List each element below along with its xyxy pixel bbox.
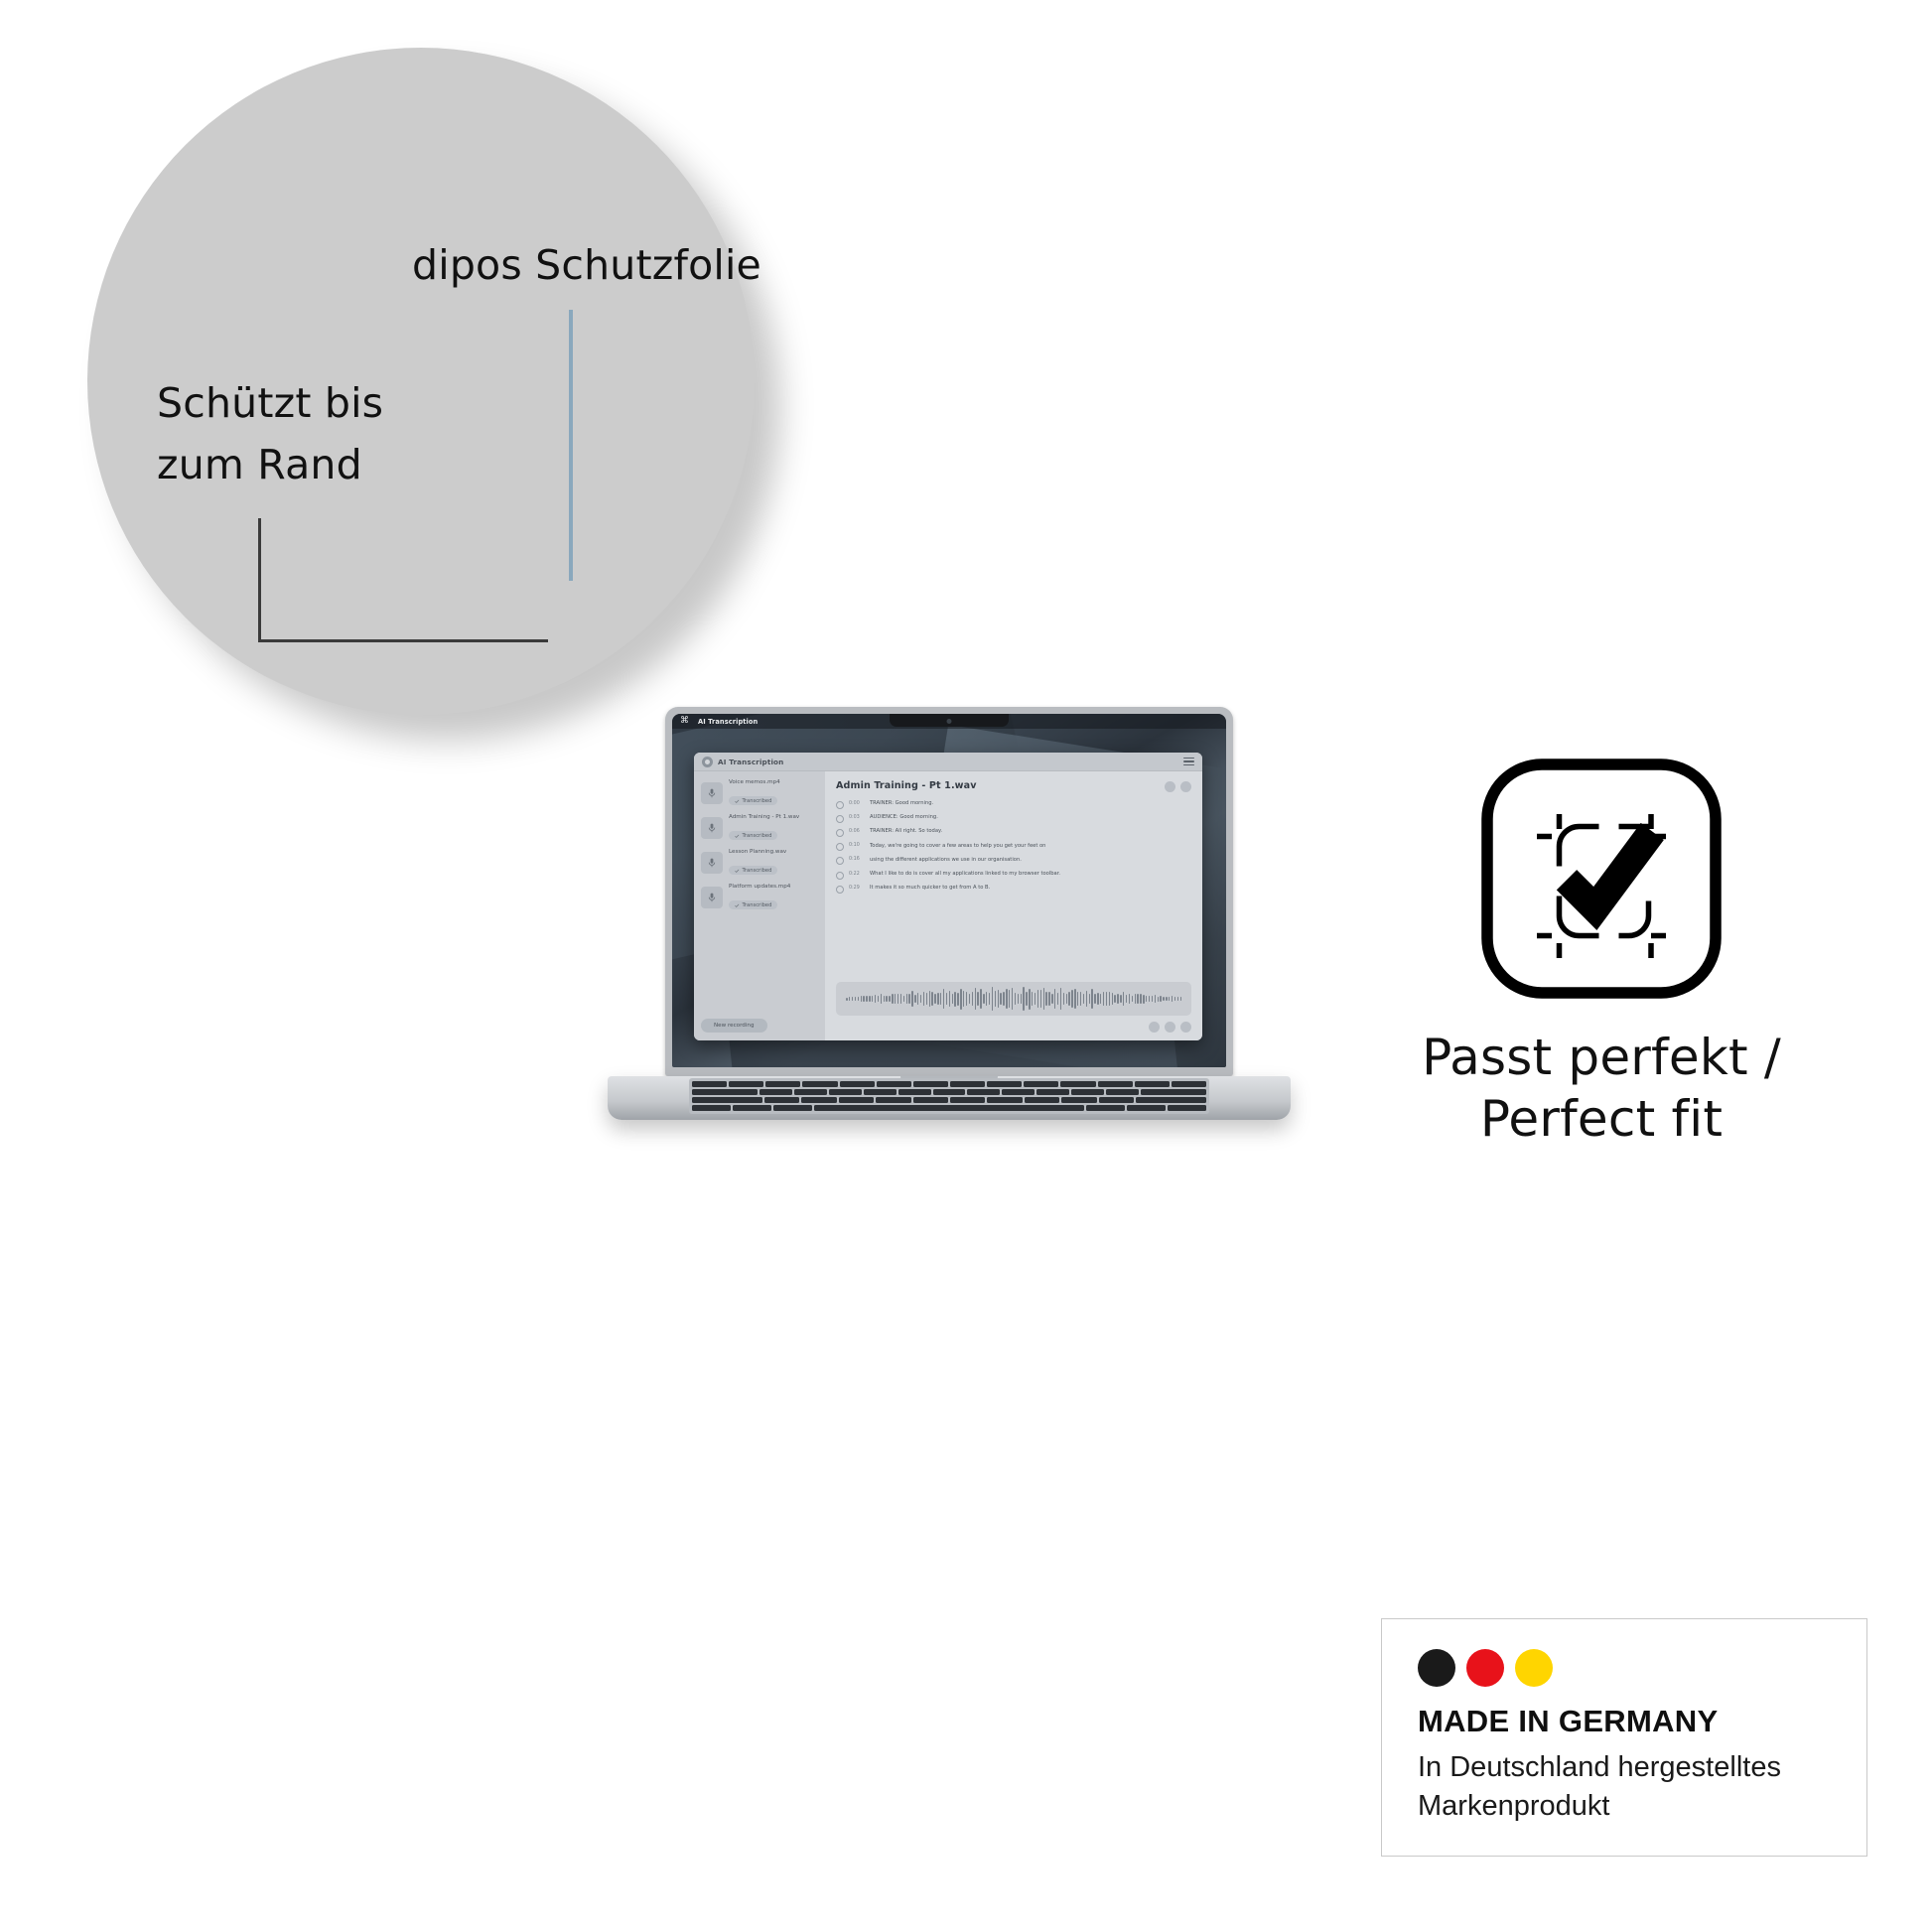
microphone-icon xyxy=(701,852,723,874)
waveform-bar xyxy=(989,993,990,1005)
key[interactable] xyxy=(1036,1089,1069,1095)
transcript-text: It makes it so much quicker to get from … xyxy=(870,885,990,892)
microphone-icon xyxy=(701,817,723,839)
waveform-bar xyxy=(1026,992,1027,1007)
waveform-bar xyxy=(1068,992,1069,1005)
key[interactable] xyxy=(839,1097,874,1103)
key[interactable] xyxy=(967,1089,1000,1095)
waveform-bar xyxy=(1112,993,1113,1006)
waveform-bar xyxy=(1174,997,1175,1001)
waveform-bar xyxy=(849,997,850,1001)
transcript-row[interactable]: 0:00 TRAINER: Good morning. xyxy=(836,800,1191,809)
waveform-bar xyxy=(1018,994,1019,1005)
flag-dot-black xyxy=(1418,1649,1455,1687)
made-in-germany-subtitle: In Deutschland hergestelltes Markenprodu… xyxy=(1418,1748,1866,1825)
audio-waveform[interactable] xyxy=(836,982,1191,1016)
file-meta: Voice memos.mp4 Transcribed xyxy=(729,779,818,807)
header-actions xyxy=(1165,780,1191,792)
waveform-bar xyxy=(1117,994,1118,1005)
key[interactable] xyxy=(987,1081,1022,1087)
key[interactable] xyxy=(801,1097,836,1103)
waveform-bar xyxy=(1155,995,1156,1004)
waveform-bar xyxy=(1037,990,1038,1007)
waveform-bar xyxy=(995,991,996,1007)
key[interactable] xyxy=(773,1105,812,1111)
microphone-icon xyxy=(701,887,723,908)
transcript-text: TRAINER: Good morning. xyxy=(870,800,933,807)
waveform-bar xyxy=(977,992,978,1007)
waveform-bar xyxy=(881,994,882,1004)
waveform-bar xyxy=(1054,989,1055,1009)
waveform-bar xyxy=(858,997,859,1001)
waveform-bar xyxy=(1043,988,1044,1010)
laptop-mockup: ⌘ AI Transcription AI Transcription xyxy=(608,707,1291,1213)
file-sidebar: Voice memos.mp4 Transcribed xyxy=(694,771,825,1040)
waveform-bar xyxy=(892,994,893,1004)
key[interactable] xyxy=(1136,1097,1206,1103)
waveform-bar xyxy=(1180,997,1181,1000)
key[interactable] xyxy=(814,1105,1084,1111)
app-window: AI Transcription xyxy=(694,753,1202,1040)
transcript-timestamp: 0:10 xyxy=(849,843,865,848)
key[interactable] xyxy=(1025,1097,1059,1103)
list-item[interactable]: Lesson Planning.wav Transcribed xyxy=(701,849,818,877)
transcript-text: using the different applications we use … xyxy=(870,857,1022,864)
file-name: Admin Training - Pt 1.wav xyxy=(729,814,818,820)
waveform-bar xyxy=(1109,992,1110,1005)
callout-subtitle-line1: Schützt bis xyxy=(157,372,383,434)
key[interactable] xyxy=(1060,1081,1095,1087)
file-meta: Admin Training - Pt 1.wav Transcribed xyxy=(729,814,818,842)
waveform-bar xyxy=(923,992,924,1006)
key[interactable] xyxy=(692,1097,762,1103)
key[interactable] xyxy=(876,1097,910,1103)
perfect-fit-block: Passt perfekt / Perfect fit xyxy=(1388,755,1815,1150)
file-name: Voice memos.mp4 xyxy=(729,779,818,785)
list-item[interactable]: Admin Training - Pt 1.wav Transcribed xyxy=(701,814,818,842)
waveform-bar xyxy=(1135,994,1136,1003)
play-pause-button[interactable] xyxy=(1165,1022,1175,1033)
status-badge-label: Transcribed xyxy=(743,798,772,804)
waveform-bar xyxy=(861,996,862,1001)
status-badge: Transcribed xyxy=(729,831,777,840)
waveform-bar xyxy=(1032,992,1033,1005)
waveform-bar xyxy=(929,991,930,1007)
key[interactable] xyxy=(802,1081,837,1087)
key[interactable] xyxy=(729,1081,763,1087)
waveform-bar xyxy=(872,996,873,1001)
waveform-bar xyxy=(1015,993,1016,1005)
key[interactable] xyxy=(1098,1081,1133,1087)
waveform-bar xyxy=(911,991,912,1007)
waveform-bar xyxy=(906,994,907,1005)
waveform-bar xyxy=(949,991,950,1007)
status-badge: Transcribed xyxy=(729,900,777,909)
waveform-bar xyxy=(1000,993,1001,1005)
key[interactable] xyxy=(864,1089,897,1095)
waveform-bar xyxy=(1080,992,1081,1006)
transcript-text: TRAINER: All right. So today. xyxy=(870,828,942,835)
file-name: Platform updates.mp4 xyxy=(729,884,818,890)
waveform-bar xyxy=(1051,994,1052,1005)
waveform-bar xyxy=(1120,995,1121,1003)
leader-line-dark-vertical xyxy=(258,518,261,641)
german-flag-dots xyxy=(1418,1649,1866,1687)
key[interactable] xyxy=(840,1081,875,1087)
key[interactable] xyxy=(1168,1105,1206,1111)
key[interactable] xyxy=(950,1081,985,1087)
key[interactable] xyxy=(1086,1105,1125,1111)
waveform-bar xyxy=(1100,994,1101,1004)
waveform-bar xyxy=(966,992,967,1006)
apple-menu-icon[interactable]: ⌘ xyxy=(680,717,689,726)
flag-dot-gold xyxy=(1515,1649,1553,1687)
waveform-bar xyxy=(1149,996,1150,1002)
waveform-bar xyxy=(1114,995,1115,1003)
made-in-germany-badge: MADE IN GERMANY In Deutschland hergestel… xyxy=(1381,1618,1867,1857)
key[interactable] xyxy=(1061,1097,1096,1103)
speaker-icon xyxy=(836,829,844,837)
key[interactable] xyxy=(913,1081,948,1087)
callout-title: dipos Schutzfolie xyxy=(412,241,761,289)
waveform-bar xyxy=(1103,992,1104,1006)
waveform-bar xyxy=(1074,989,1075,1008)
transcript-timestamp: 0:00 xyxy=(849,801,865,806)
waveform-bar xyxy=(946,993,947,1004)
list-item[interactable]: Platform updates.mp4 Transcribed xyxy=(701,884,818,911)
waveform-bar xyxy=(963,991,964,1007)
waveform-bar xyxy=(1089,994,1090,1003)
microphone-icon xyxy=(701,782,723,804)
keyboard-row xyxy=(692,1081,1206,1087)
keyboard[interactable] xyxy=(689,1078,1209,1114)
key[interactable] xyxy=(1106,1089,1139,1095)
transcript-timestamp: 0:29 xyxy=(849,886,865,891)
waveform-bar xyxy=(1094,994,1095,1005)
transcript-row[interactable]: 0:16 using the different applications we… xyxy=(836,857,1191,866)
waveform-bar xyxy=(1057,993,1058,1005)
made-in-germany-subtitle-line2: Markenprodukt xyxy=(1418,1787,1866,1826)
waveform-bar xyxy=(917,993,918,1004)
waveform-bar xyxy=(960,989,961,1010)
key[interactable] xyxy=(933,1089,966,1095)
waveform-bar xyxy=(934,994,935,1004)
screen-notch xyxy=(890,714,1009,727)
hamburger-icon[interactable] xyxy=(1183,758,1194,766)
leader-line-blue xyxy=(569,310,573,581)
waveform-bar xyxy=(1077,992,1078,1007)
leader-line-dark-horizontal xyxy=(258,639,548,642)
speaker-icon xyxy=(836,886,844,894)
waveform-bar xyxy=(1132,996,1133,1003)
check-icon xyxy=(735,834,740,839)
waveform-bar xyxy=(1045,992,1046,1006)
waveform-bar xyxy=(1169,997,1170,1002)
waveform-bar xyxy=(897,994,898,1005)
flag-dot-red xyxy=(1466,1649,1504,1687)
waveform-bar xyxy=(1091,989,1092,1008)
webcam-icon xyxy=(947,719,952,724)
app-brand: AI Transcription xyxy=(702,757,783,767)
waveform-bar xyxy=(1003,992,1004,1007)
key[interactable] xyxy=(898,1089,931,1095)
key[interactable] xyxy=(794,1089,827,1095)
waveform-bar xyxy=(926,993,927,1006)
keyboard-row xyxy=(692,1105,1206,1111)
keyboard-row xyxy=(692,1089,1206,1095)
status-badge-label: Transcribed xyxy=(743,868,772,874)
page-title: Admin Training - Pt 1.wav xyxy=(836,780,977,791)
waveform-bar xyxy=(1129,994,1130,1004)
speaker-icon xyxy=(836,815,844,823)
waveform-bar xyxy=(1066,994,1067,1005)
waveform-bar xyxy=(1086,991,1087,1007)
transcript-timestamp: 0:06 xyxy=(849,829,865,834)
file-meta: Platform updates.mp4 Transcribed xyxy=(729,884,818,911)
waveform-bar xyxy=(908,994,909,1003)
speaker-icon xyxy=(836,801,844,809)
callout-subtitle: Schützt bis zum Rand xyxy=(157,372,383,496)
key[interactable] xyxy=(692,1081,727,1087)
waveform-bar xyxy=(940,993,941,1006)
waveform-bar xyxy=(1029,989,1030,1010)
transcript-row[interactable]: 0:06 TRAINER: All right. So today. xyxy=(836,828,1191,837)
rewind-button[interactable] xyxy=(1149,1022,1160,1033)
waveform-bar xyxy=(1123,992,1124,1007)
key[interactable] xyxy=(692,1105,731,1111)
waveform-bar xyxy=(1063,993,1064,1006)
share-button[interactable] xyxy=(1165,781,1175,792)
waveform-bar xyxy=(1143,995,1144,1004)
waveform-bar xyxy=(855,997,856,1001)
transcript-text: AUDIENCE: Good morning. xyxy=(870,814,938,821)
made-in-germany-subtitle-line1: In Deutschland hergestelltes xyxy=(1418,1748,1866,1787)
key[interactable] xyxy=(1024,1081,1058,1087)
transcript-row[interactable]: 0:03 AUDIENCE: Good morning. xyxy=(836,814,1191,823)
waveform-bar xyxy=(852,997,853,1001)
file-name: Lesson Planning.wav xyxy=(729,849,818,855)
waveform-bar xyxy=(1137,994,1138,1003)
waveform-bar xyxy=(889,996,890,1003)
app-logo-icon xyxy=(702,757,713,767)
key[interactable] xyxy=(829,1089,862,1095)
status-badge: Transcribed xyxy=(729,866,777,875)
waveform-bar xyxy=(1021,994,1022,1005)
key[interactable] xyxy=(759,1089,792,1095)
waveform-bar xyxy=(1140,994,1141,1004)
status-badge-label: Transcribed xyxy=(743,902,772,908)
waveform-bar xyxy=(1177,997,1178,1001)
key[interactable] xyxy=(733,1105,771,1111)
waveform-bar xyxy=(1126,995,1127,1003)
waveform-bar xyxy=(1006,989,1007,1009)
key[interactable] xyxy=(692,1089,758,1095)
waveform-bar xyxy=(914,995,915,1003)
waveform-bar xyxy=(1071,990,1072,1007)
status-badge-label: Transcribed xyxy=(743,833,772,839)
key[interactable] xyxy=(1135,1081,1170,1087)
status-badge: Transcribed xyxy=(729,796,777,805)
callout-subtitle-line2: zum Rand xyxy=(157,434,383,495)
waveform-bar xyxy=(869,996,870,1001)
transcript-list: 0:00 TRAINER: Good morning. 0:03 AUDIENC… xyxy=(836,800,1191,975)
app-body: Voice memos.mp4 Transcribed xyxy=(694,771,1202,1040)
menubar-active-app[interactable]: AI Transcription xyxy=(698,718,758,726)
transcript-row[interactable]: 0:29 It makes it so much quicker to get … xyxy=(836,885,1191,894)
key[interactable] xyxy=(765,1081,800,1087)
waveform-bar xyxy=(1009,990,1010,1007)
key[interactable] xyxy=(1172,1081,1206,1087)
waveform-bar xyxy=(1146,996,1147,1003)
waveform-bar xyxy=(1097,993,1098,1004)
waveform-bar xyxy=(1152,996,1153,1002)
waveform-bar xyxy=(980,989,981,1009)
app-titlebar: AI Transcription xyxy=(694,753,1202,771)
crop-check-icon xyxy=(1388,755,1815,1003)
transcript-text: What I like to do is cover all my applic… xyxy=(870,871,1060,878)
new-recording-button[interactable]: New recording xyxy=(701,1019,767,1033)
check-icon xyxy=(735,903,740,908)
app-title: AI Transcription xyxy=(718,758,783,766)
waveform-bar xyxy=(1158,997,1159,1002)
waveform-bar xyxy=(952,994,953,1004)
waveform-bar xyxy=(875,995,876,1003)
waveform-bar xyxy=(1035,993,1035,1005)
transcript-timestamp: 0:16 xyxy=(849,857,865,862)
waveform-bar xyxy=(863,996,864,1002)
waveform-bar xyxy=(983,994,984,1005)
list-item[interactable]: Voice memos.mp4 Transcribed xyxy=(701,779,818,807)
waveform-bar xyxy=(943,989,944,1009)
transcript-row[interactable]: 0:22 What I like to do is cover all my a… xyxy=(836,871,1191,880)
key[interactable] xyxy=(1127,1105,1166,1111)
waveform-bar xyxy=(1012,988,1013,1011)
transcript-header: Admin Training - Pt 1.wav xyxy=(836,780,1191,792)
key[interactable] xyxy=(877,1081,911,1087)
player-controls xyxy=(836,1022,1191,1033)
speaker-icon xyxy=(836,857,844,865)
waveform-bar xyxy=(986,992,987,1006)
waveform-bar xyxy=(969,994,970,1005)
waveform-bar xyxy=(1166,997,1167,1002)
transcript-row[interactable]: 0:10 Today, we're going to cover a few a… xyxy=(836,843,1191,852)
made-in-germany-title: MADE IN GERMANY xyxy=(1418,1704,1866,1739)
file-meta: Lesson Planning.wav Transcribed xyxy=(729,849,818,877)
key[interactable] xyxy=(1002,1089,1035,1095)
laptop-lid: ⌘ AI Transcription AI Transcription xyxy=(665,707,1233,1076)
waveform-bar xyxy=(954,992,955,1007)
key[interactable] xyxy=(764,1097,799,1103)
key[interactable] xyxy=(1141,1089,1206,1095)
waveform-bar xyxy=(992,987,993,1011)
laptop-screen: ⌘ AI Transcription AI Transcription xyxy=(672,714,1226,1067)
key[interactable] xyxy=(950,1097,985,1103)
perfect-fit-caption: Passt perfekt / Perfect fit xyxy=(1388,1027,1815,1150)
waveform-bar xyxy=(1060,988,1061,1010)
waveform-bar xyxy=(884,996,885,1002)
key[interactable] xyxy=(987,1097,1022,1103)
waveform-bar xyxy=(957,993,958,1006)
key[interactable] xyxy=(1071,1089,1104,1095)
transcript-panel: Admin Training - Pt 1.wav 0:00 TRAINER: … xyxy=(825,771,1202,1040)
more-options-button[interactable] xyxy=(1180,781,1191,792)
forward-button[interactable] xyxy=(1180,1022,1191,1033)
waveform-bar xyxy=(846,998,847,1001)
speaker-icon xyxy=(836,843,844,851)
waveform-bar xyxy=(1040,990,1041,1008)
waveform-bar xyxy=(931,992,932,1005)
waveform-bar xyxy=(900,994,901,1004)
check-icon xyxy=(735,869,740,874)
waveform-bar xyxy=(878,996,879,1002)
perfect-fit-caption-line2: Perfect fit xyxy=(1388,1088,1815,1150)
transcript-timestamp: 0:22 xyxy=(849,872,865,877)
waveform-bar xyxy=(998,990,999,1008)
key[interactable] xyxy=(1099,1097,1134,1103)
waveform-bar xyxy=(937,993,938,1005)
speaker-icon xyxy=(836,872,844,880)
waveform-bar xyxy=(895,994,896,1004)
waveform-bar xyxy=(1106,992,1107,1006)
check-icon xyxy=(735,799,740,804)
transcript-text: Today, we're going to cover a few areas … xyxy=(870,843,1045,850)
key[interactable] xyxy=(913,1097,948,1103)
waveform-bar xyxy=(1172,996,1173,1001)
transcript-timestamp: 0:03 xyxy=(849,815,865,820)
waveform-bar xyxy=(886,996,887,1003)
waveform-bar xyxy=(1083,994,1084,1004)
waveform-bar xyxy=(1023,987,1024,1010)
waveform-bar xyxy=(975,988,976,1009)
waveform-bar xyxy=(1163,997,1164,1002)
waveform-bar xyxy=(972,992,973,1007)
waveform-bar xyxy=(1160,996,1161,1003)
perfect-fit-caption-line1: Passt perfekt / xyxy=(1388,1027,1815,1088)
waveform-bar xyxy=(920,995,921,1003)
waveform-bar xyxy=(903,996,904,1003)
waveform-bar xyxy=(1048,992,1049,1005)
waveform-bar xyxy=(866,996,867,1002)
keyboard-row xyxy=(692,1097,1206,1103)
